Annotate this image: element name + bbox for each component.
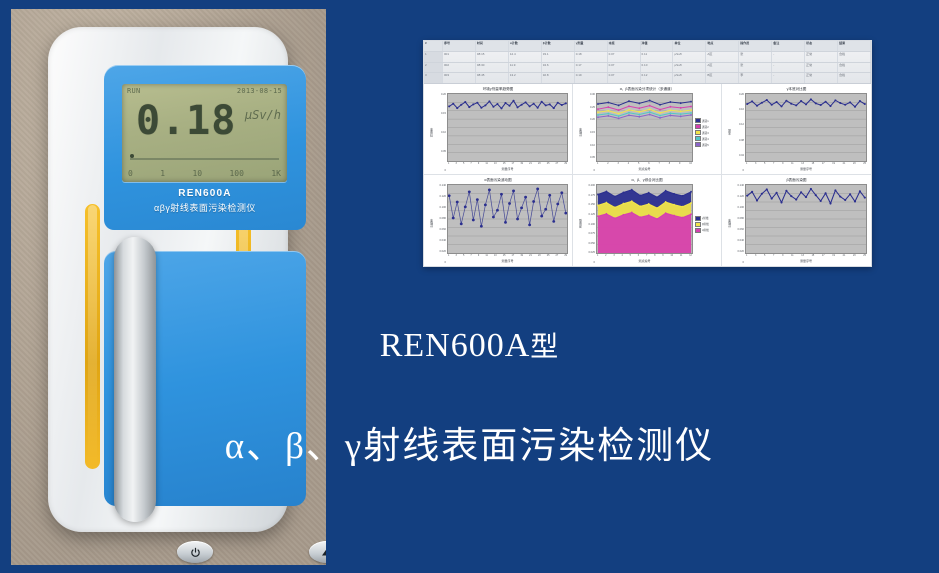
legend-label: 通道3	[702, 131, 709, 135]
y-tick: 0.20	[435, 93, 446, 96]
up-button[interactable]	[309, 541, 326, 563]
table-cell: 0.07	[608, 63, 641, 73]
table-cell: 11.9	[509, 63, 542, 73]
table-cell: -	[772, 63, 805, 73]
table-cell: 2	[424, 63, 443, 73]
legend-swatch	[695, 136, 701, 141]
y-tick: 0.080	[733, 217, 744, 220]
table-cell: 001	[443, 52, 476, 62]
table-cell: -	[772, 52, 805, 62]
table-header-cell: α计数	[509, 41, 542, 51]
chart-title: β表面污染图	[726, 178, 867, 183]
table-row[interactable]: 2 002 08:30 11.9 34.6 0.17 0.07 0.10 μSv…	[424, 63, 871, 74]
y-tick: 0.10	[584, 144, 595, 147]
chart-legend[interactable]: γ射线β射线α射线	[693, 184, 717, 264]
table-cell: 13.2	[509, 73, 542, 83]
chart-legend[interactable]: 通道1通道2通道3通道4通道5	[693, 93, 717, 172]
y-tick: 0.10	[435, 131, 446, 134]
y-tick: 0.050	[584, 242, 595, 245]
y-tick: 0.05	[435, 150, 446, 153]
table-header-cell: 净值	[641, 41, 674, 51]
y-tick: 0	[584, 169, 595, 172]
y-tick: 0.15	[435, 112, 446, 115]
table-header-cell: 时间	[476, 41, 509, 51]
chart-y-label: 剂量率	[428, 93, 435, 172]
y-tick: 0.25	[584, 106, 595, 109]
device-model-text: REN600A	[104, 188, 306, 199]
chart-plot-area	[745, 93, 867, 162]
chart-x-label: 测量序号	[447, 259, 568, 264]
lcd-status-left: RUN	[127, 87, 141, 98]
chart-x-label: 测量序号	[745, 259, 867, 264]
table-cell: -	[772, 73, 805, 83]
model-suffix: 型	[530, 330, 559, 363]
table-cell: μSv/h	[673, 63, 706, 73]
table-cell: 正常	[805, 52, 838, 62]
chart-y-ticks: 0.200 0.175 0.150 0.125 0.100 0.075 0.05…	[584, 184, 596, 264]
chart-panel-bottom-right[interactable]: β表面污染图 计数率 0.140 0.120 0.100 0.080 0.060…	[722, 175, 871, 266]
y-tick: 0	[435, 261, 446, 264]
table-cell: 08:15	[476, 52, 509, 62]
table-header-cell: 结果	[838, 41, 871, 51]
y-tick: 0.140	[733, 184, 744, 187]
table-header-cell: β计数	[542, 41, 575, 51]
chart-y-label: 计数率	[577, 93, 584, 172]
legend-label: 通道5	[702, 143, 709, 147]
table-cell: 002	[443, 63, 476, 73]
table-cell: 33.1	[542, 52, 575, 62]
table-cell: μSv/h	[673, 52, 706, 62]
table-cell: 3	[424, 73, 443, 83]
lcd-scale-ticks: 0 1 10 100 1K	[128, 169, 281, 178]
power-icon	[190, 547, 201, 558]
y-tick: 0.30	[584, 93, 595, 96]
y-tick: 0.175	[584, 194, 595, 197]
legend-item[interactable]: 通道4	[695, 136, 717, 141]
table-cell: 08:45	[476, 73, 509, 83]
page-title-description: α、β、γ射线表面污染检测仪	[0, 415, 939, 469]
table-cell: 0.07	[608, 52, 641, 62]
y-tick: 0.020	[435, 250, 446, 253]
keypad: MENU	[160, 541, 326, 565]
chart-panel-bottom-middle[interactable]: α、β、γ综合对比图 测量值 0.200 0.175 0.150 0.125 0…	[573, 175, 722, 266]
table-cell: 34.6	[542, 63, 575, 73]
chart-grid: 环境γ剂量率趋势图 剂量率 0.20 0.15 0.10 0.05 0 1357…	[424, 84, 871, 266]
table-cell: μSv/h	[673, 73, 706, 83]
table-cell: 合格	[838, 52, 871, 62]
table-row[interactable]: 3 003 08:45 13.2 32.8 0.19 0.07 0.12 μSv…	[424, 73, 871, 83]
table-cell: 0.11	[641, 52, 674, 62]
lcd-tick: 10	[192, 169, 202, 178]
chart-y-label: 计数率	[428, 184, 435, 264]
legend-label: 通道4	[702, 137, 709, 141]
chart-title: α、β表面污染分项统计（多通道）	[577, 87, 717, 92]
chart-title: α、β、γ综合对比图	[577, 178, 717, 183]
chart-y-label: 测量值	[577, 184, 584, 264]
legend-item[interactable]: 通道5	[695, 142, 717, 147]
chart-y-ticks: 0.20 0.15 0.10 0.05 0	[435, 93, 447, 172]
table-header-cell: 备注	[772, 41, 805, 51]
table-cell: 32.8	[542, 73, 575, 83]
table-header-row: # 序号 时间 α计数 β计数 γ剂量 本底 净值 单位 地点 操作员 备注 状…	[424, 41, 871, 52]
device-upper-face: RUN 2013-08-15 0.18 μSv/h 0 1 10 100 1K	[104, 65, 306, 230]
chart-panel-bottom-left[interactable]: α表面污染波动图 计数率 0.140 0.120 0.100 0.080 0.0…	[424, 175, 573, 266]
legend-swatch	[695, 216, 701, 221]
chart-plot-area	[745, 184, 867, 254]
table-cell: 12.4	[509, 52, 542, 62]
device-hand-strap	[114, 237, 156, 522]
table-cell: 张	[739, 52, 772, 62]
chart-panel-top-right[interactable]: γ本底对比图 本底 0.20 0.16 0.12 0.08 0.04 0 135…	[722, 84, 871, 175]
legend-item[interactable]: 通道1	[695, 118, 717, 123]
lcd-tick: 1	[160, 169, 165, 178]
y-tick: 0.125	[584, 213, 595, 216]
chart-panel-top-left[interactable]: 环境γ剂量率趋势图 剂量率 0.20 0.15 0.10 0.05 0 1357…	[424, 84, 573, 175]
chart-title: α表面污染波动图	[428, 178, 568, 183]
power-button[interactable]	[177, 541, 213, 563]
table-cell: 合格	[838, 73, 871, 83]
y-tick: 0.040	[435, 239, 446, 242]
table-cell: 0.19	[575, 73, 608, 83]
table-header-cell: 操作员	[739, 41, 772, 51]
table-cell: 003	[443, 73, 476, 83]
table-cell: 正常	[805, 63, 838, 73]
table-header-cell: 本底	[608, 41, 641, 51]
legend-swatch	[695, 124, 701, 129]
y-tick: 0	[435, 169, 446, 172]
lcd-screen: RUN 2013-08-15 0.18 μSv/h 0 1 10 100 1K	[122, 84, 287, 182]
lcd-tick: 1K	[271, 169, 281, 178]
y-tick: 0.150	[584, 203, 595, 206]
y-tick: 0.100	[733, 206, 744, 209]
y-tick: 0.20	[584, 118, 595, 121]
y-tick: 0.200	[584, 184, 595, 187]
chart-y-ticks: 0.20 0.16 0.12 0.08 0.04 0	[733, 93, 745, 172]
legend-label: α射线	[702, 228, 709, 232]
table-cell: 0.18	[575, 52, 608, 62]
lcd-status-right: 2013-08-15	[237, 87, 282, 98]
y-tick: 0.100	[435, 206, 446, 209]
chart-plot-area	[596, 93, 693, 162]
table-header-cell: 单位	[673, 41, 706, 51]
legend-swatch	[695, 222, 701, 227]
legend-item[interactable]: γ射线	[695, 216, 717, 221]
table-header-cell: γ剂量	[575, 41, 608, 51]
table-cell: 合格	[838, 63, 871, 73]
data-table: # 序号 时间 α计数 β计数 γ剂量 本底 净值 单位 地点 操作员 备注 状…	[424, 41, 871, 84]
table-cell: 正常	[805, 73, 838, 83]
table-header-cell: 状态	[805, 41, 838, 51]
lcd-status-bar: RUN 2013-08-15	[127, 87, 282, 98]
y-tick: 0.05	[584, 156, 595, 159]
measurement-report-screenshot: # 序号 时间 α计数 β计数 γ剂量 本底 净值 单位 地点 操作员 备注 状…	[423, 40, 872, 267]
table-cell: B区	[706, 73, 739, 83]
device-brand-label: REN600A αβγ射线表面污染检测仪	[104, 188, 306, 214]
chart-x-label: 测量序号	[745, 167, 867, 172]
y-tick: 0.12	[733, 123, 744, 126]
y-tick: 0	[733, 261, 744, 264]
table-row[interactable]: 1 001 08:15 12.4 33.1 0.18 0.07 0.11 μSv…	[424, 52, 871, 63]
chart-y-ticks: 0.140 0.120 0.100 0.080 0.060 0.040 0.02…	[733, 184, 745, 264]
table-cell: 0.12	[641, 73, 674, 83]
y-tick: 0.120	[733, 195, 744, 198]
y-tick: 0	[733, 169, 744, 172]
y-tick: 0.060	[435, 228, 446, 231]
y-tick: 0.040	[733, 239, 744, 242]
table-cell: 张	[739, 63, 772, 73]
table-cell: 0.07	[608, 73, 641, 83]
lcd-bar-graph	[130, 158, 279, 160]
legend-item[interactable]: 通道3	[695, 130, 717, 135]
poster-root: RUN 2013-08-15 0.18 μSv/h 0 1 10 100 1K	[0, 0, 939, 573]
legend-item[interactable]: β射线	[695, 222, 717, 227]
y-tick: 0.140	[435, 184, 446, 187]
y-tick: 0.075	[584, 232, 595, 235]
legend-label: γ射线	[702, 216, 708, 220]
table-header-cell: 地点	[706, 41, 739, 51]
y-tick: 0.120	[435, 195, 446, 198]
table-cell: 0.10	[641, 63, 674, 73]
triangle-up-icon	[321, 547, 326, 557]
y-tick: 0.080	[435, 217, 446, 220]
y-tick: 0.15	[584, 131, 595, 134]
table-cell: 08:30	[476, 63, 509, 73]
lcd-reading-value: 0.18	[136, 101, 236, 141]
page-title-model: REN600A型	[0, 325, 939, 365]
legend-item[interactable]: 通道2	[695, 124, 717, 129]
y-tick: 0.025	[584, 251, 595, 254]
lcd-reading-unit: μSv/h	[245, 108, 281, 122]
table-cell: 1	[424, 52, 443, 62]
legend-swatch	[695, 118, 701, 123]
y-tick: 0.100	[584, 223, 595, 226]
lcd-tick: 100	[229, 169, 243, 178]
lcd-tick: 0	[128, 169, 133, 178]
legend-label: 通道1	[702, 119, 709, 123]
table-cell: A区	[706, 52, 739, 62]
legend-swatch	[695, 130, 701, 135]
y-tick: 0.04	[733, 154, 744, 157]
chart-y-ticks: 0.140 0.120 0.100 0.080 0.060 0.040 0.02…	[435, 184, 447, 264]
product-photo: RUN 2013-08-15 0.18 μSv/h 0 1 10 100 1K	[11, 9, 326, 565]
legend-item[interactable]: α射线	[695, 228, 717, 233]
chart-plot-area	[447, 184, 568, 254]
table-cell: A区	[706, 63, 739, 73]
chart-y-label: 本底	[726, 93, 733, 172]
y-tick: 0.020	[733, 250, 744, 253]
table-header-cell: 序号	[443, 41, 476, 51]
device-description-text: αβγ射线表面污染检测仪	[104, 201, 306, 214]
table-header-cell: #	[424, 41, 443, 51]
chart-plot-area	[447, 93, 568, 162]
table-cell: 0.17	[575, 63, 608, 73]
chart-y-ticks: 0.30 0.25 0.20 0.15 0.10 0.05 0	[584, 93, 596, 172]
chart-title: 环境γ剂量率趋势图	[428, 87, 568, 92]
legend-swatch	[695, 228, 701, 233]
chart-y-label: 计数率	[726, 184, 733, 264]
chart-x-label: 测点编号	[596, 167, 693, 172]
legend-swatch	[695, 142, 701, 147]
y-tick: 0.08	[733, 139, 744, 142]
y-tick: 0.060	[733, 228, 744, 231]
table-cell: 李	[739, 73, 772, 83]
chart-title: γ本底对比图	[726, 87, 867, 92]
model-name: REN600A	[380, 327, 531, 364]
y-tick: 0.16	[733, 108, 744, 111]
chart-x-label: 测点编号	[596, 259, 693, 264]
y-tick: 0.20	[733, 93, 744, 96]
y-tick: 0	[584, 261, 595, 264]
chart-plot-area	[596, 184, 693, 254]
chart-panel-top-middle[interactable]: α、β表面污染分项统计（多通道） 计数率 0.30 0.25 0.20 0.15…	[573, 84, 722, 175]
legend-label: 通道2	[702, 125, 709, 129]
chart-x-label: 测量序号	[447, 167, 568, 172]
legend-label: β射线	[702, 222, 709, 226]
